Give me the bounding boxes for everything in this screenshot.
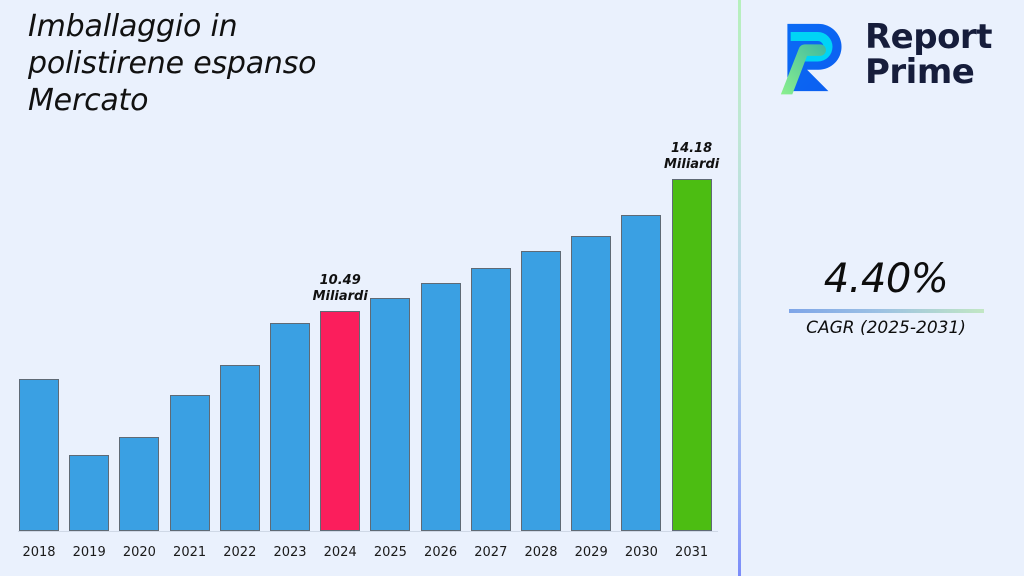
bar-group-2019: 2019 <box>69 0 109 576</box>
bar-group-2026: 2026 <box>421 0 461 576</box>
bar-2018[interactable] <box>19 379 59 531</box>
bar-2030[interactable] <box>621 215 661 531</box>
bar-group-2031: 14.18 Miliardi2031 <box>672 0 712 576</box>
cagr-value: 4.40% <box>761 255 1011 303</box>
bar-2020[interactable] <box>119 437 159 531</box>
bar-2022[interactable] <box>220 365 260 531</box>
bar-2031[interactable] <box>672 179 712 531</box>
cagr-block: 4.40% CAGR (2025-2031) <box>761 255 1011 339</box>
bar-2025[interactable] <box>370 298 410 531</box>
bar-2029[interactable] <box>571 236 611 531</box>
bar-group-2027: 2027 <box>471 0 511 576</box>
bar-group-2029: 2029 <box>571 0 611 576</box>
bar-group-2028: 2028 <box>521 0 561 576</box>
x-tick-2031: 2031 <box>662 545 722 560</box>
cagr-caption: CAGR (2025-2031) <box>761 317 1011 339</box>
bar-group-2018: 2018 <box>19 0 59 576</box>
cagr-divider <box>789 309 984 313</box>
chart-page: Imballaggio in polistirene espanso Merca… <box>0 0 1024 576</box>
bar-2019[interactable] <box>69 455 109 531</box>
bar-2023[interactable] <box>270 323 310 531</box>
bar-2024[interactable] <box>320 311 360 531</box>
bar-group-2021: 2021 <box>170 0 210 576</box>
bar-group-2025: 2025 <box>370 0 410 576</box>
bar-2026[interactable] <box>421 283 461 531</box>
brand-name: Report Prime <box>865 20 992 90</box>
bar-2028[interactable] <box>521 251 561 531</box>
bar-2021[interactable] <box>170 395 210 531</box>
right-panel: Report Prime 4.40% CAGR (2025-2031) <box>741 0 1024 576</box>
bar-group-2022: 2022 <box>220 0 260 576</box>
bar-value-label-2031: 14.18 Miliardi <box>644 141 740 173</box>
bar-2027[interactable] <box>471 268 511 531</box>
brand-logo: Report Prime <box>771 10 1021 100</box>
report-prime-r-logo-icon <box>771 14 853 96</box>
bar-group-2024: 10.49 Miliardi2024 <box>320 0 360 576</box>
bar-group-2030: 2030 <box>621 0 661 576</box>
bar-group-2020: 2020 <box>119 0 159 576</box>
bar-chart-plot: 20182019202020212022202310.49 Miliardi20… <box>0 0 738 576</box>
